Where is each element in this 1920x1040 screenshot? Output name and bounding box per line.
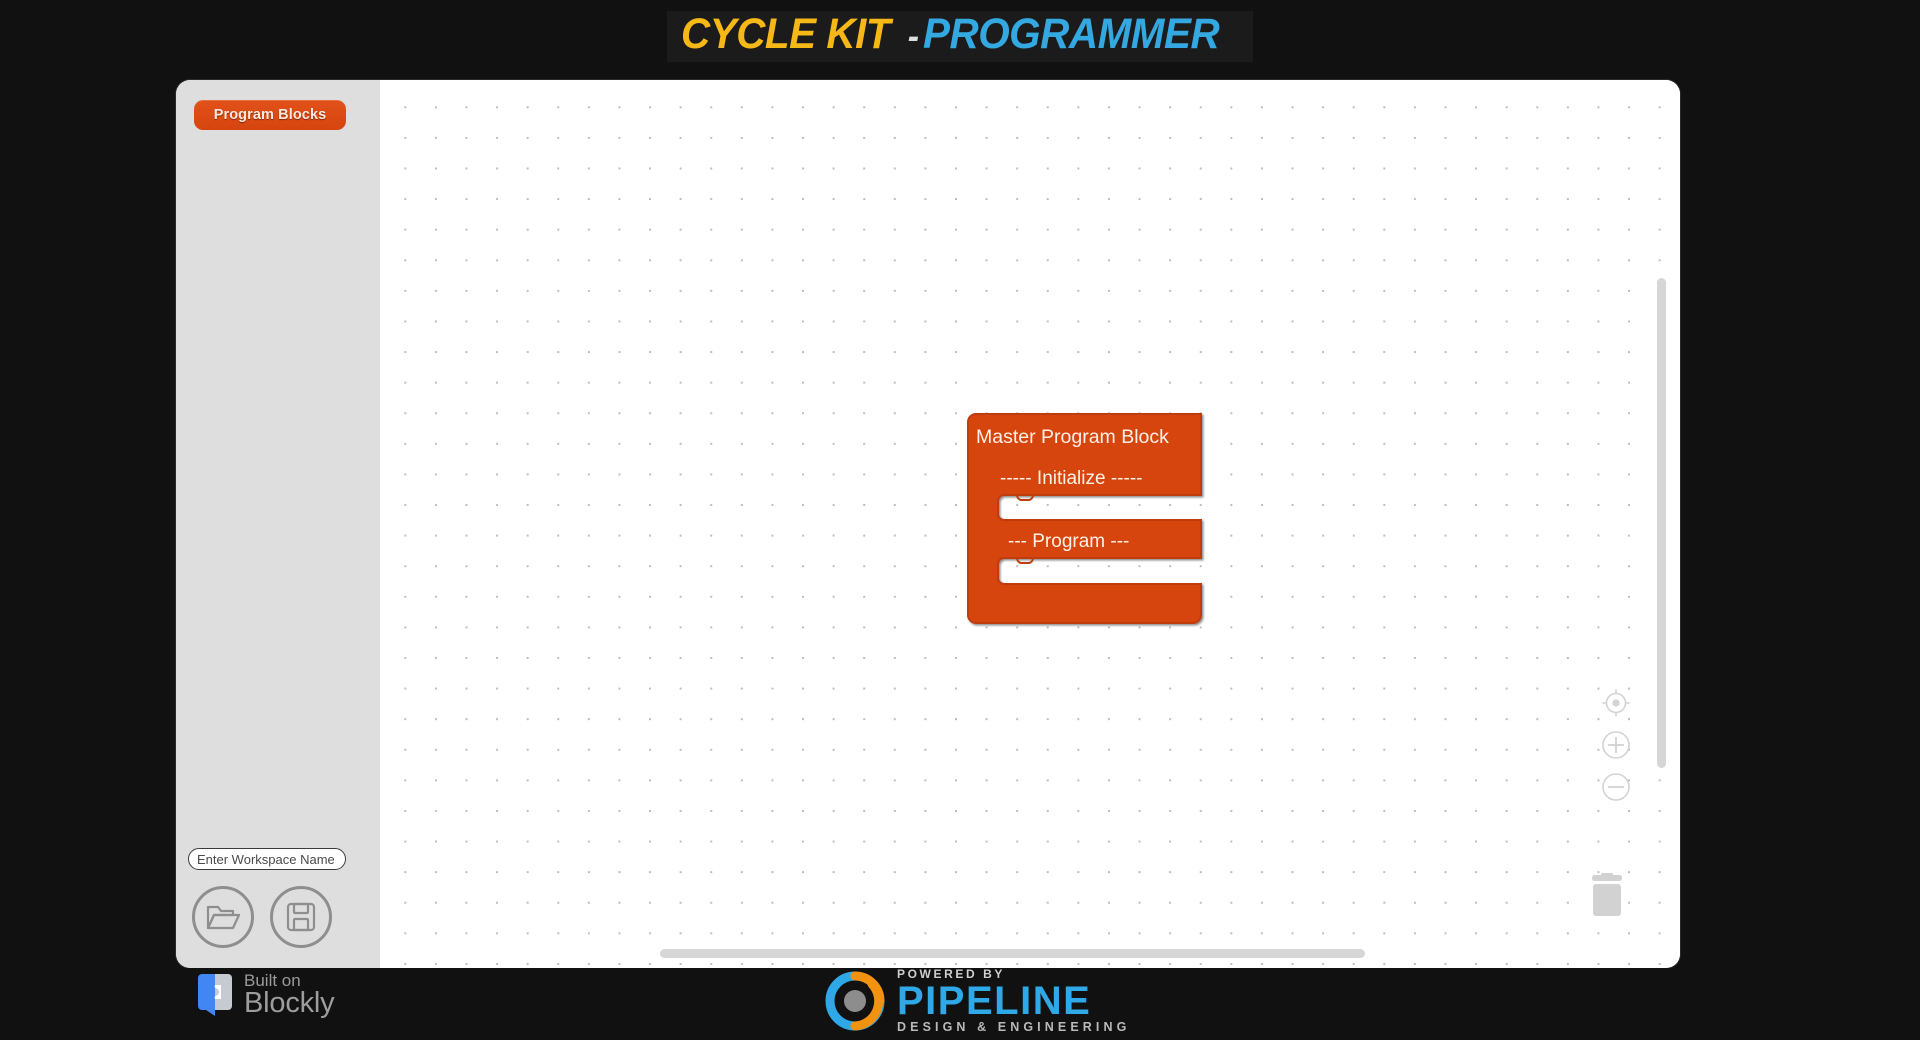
blockly-credit-text: Built on Blockly (244, 972, 334, 1018)
workspace-controls (176, 848, 380, 948)
blockly-logo-icon (196, 972, 234, 1018)
app-header: CYCLE KIT-PROGRAMMER (0, 0, 1920, 72)
blockly-wordmark: Blockly (244, 989, 334, 1018)
master-block-program-label: --- Program --- (1008, 531, 1129, 552)
pipeline-wordmark: PIPELINE (897, 982, 1130, 1020)
zoom-out-icon[interactable] (1600, 771, 1632, 803)
app-root: CYCLE KIT-PROGRAMMER Program Blocks (0, 0, 1920, 1040)
pipeline-logo-icon (824, 970, 886, 1032)
pipeline-credit-text: POWERED BY PIPELINE DESIGN & ENGINEERING (897, 968, 1130, 1034)
vertical-scrollbar[interactable] (1657, 278, 1666, 768)
toolbox-category-list: Program Blocks (176, 100, 380, 136)
title-sub: PROGRAMMER (923, 13, 1219, 56)
horizontal-scrollbar[interactable] (660, 949, 1365, 958)
workspace-action-buttons (192, 886, 380, 948)
zoom-reset-icon[interactable] (1600, 687, 1632, 719)
save-workspace-button[interactable] (270, 886, 332, 948)
title-main: CYCLE KIT (681, 13, 890, 56)
blockly-toolbox: Program Blocks (176, 80, 380, 968)
pipeline-credit: POWERED BY PIPELINE DESIGN & ENGINEERING (824, 968, 1130, 1034)
blockly-credit: Built on Blockly (196, 972, 334, 1018)
zoom-in-icon[interactable] (1600, 729, 1632, 761)
master-block-title: Master Program Block (976, 426, 1169, 448)
toolbox-category-program-blocks[interactable]: Program Blocks (194, 100, 346, 130)
trash-icon[interactable] (1584, 873, 1630, 923)
editor-panel: Program Blocks (176, 80, 1680, 968)
folder-open-icon (206, 902, 240, 932)
pipeline-tagline: DESIGN & ENGINEERING (897, 1021, 1130, 1034)
workspace-name-input[interactable] (188, 848, 346, 870)
save-floppy-icon (286, 902, 316, 932)
app-footer: Built on Blockly POWERED BY PIPELINE DES… (0, 968, 1920, 1040)
title-separator: - (904, 18, 922, 54)
blockly-workspace[interactable]: Master Program Block ----- Initialize --… (380, 80, 1680, 968)
zoom-controls (1600, 687, 1634, 813)
page-title: CYCLE KIT-PROGRAMMER (667, 11, 1252, 62)
master-block-initialize-label: ----- Initialize ----- (1000, 468, 1142, 489)
master-program-block[interactable]: Master Program Block ----- Initialize --… (960, 414, 1220, 624)
open-workspace-button[interactable] (192, 886, 254, 948)
